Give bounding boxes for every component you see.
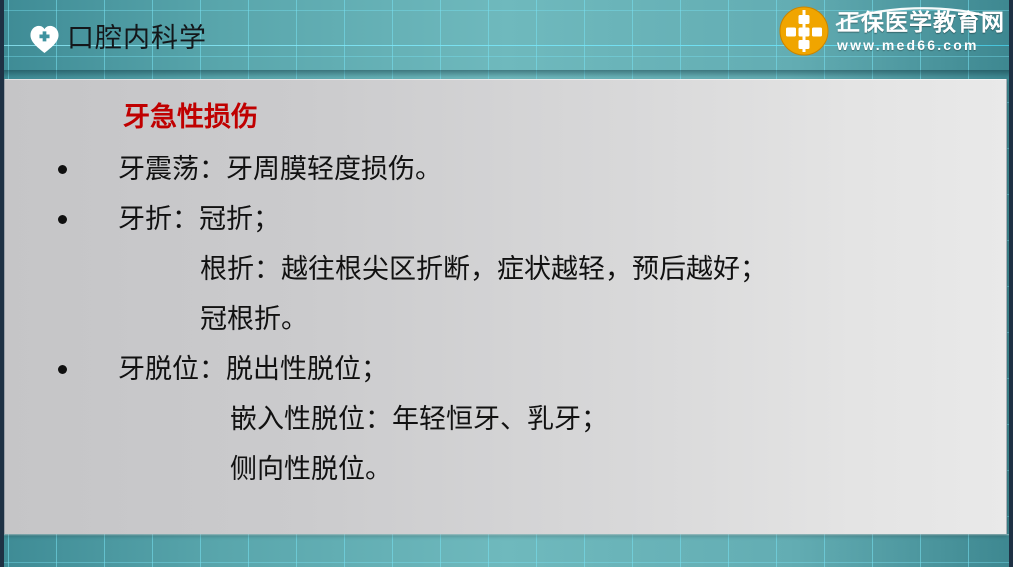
site-logo-name: 正保医学教育网 — [837, 9, 1005, 36]
slide-footer-strip — [0, 534, 1013, 567]
slide-heading: 牙急性损伤 — [123, 100, 258, 134]
presentation-slide: 口腔内科学 正保医学教育网 www.m — [0, 0, 1013, 567]
footer-highlight-line — [0, 534, 1013, 536]
slide-content-panel: 牙急性损伤牙震荡：牙周膜轻度损伤。牙折：冠折；根折：越往根尖区折断，症状越轻，预… — [4, 79, 1007, 534]
bullet-line: 牙脱位：脱出性脱位； — [118, 352, 388, 386]
bullet-line: 根折：越往根尖区折断，症状越轻，预后越好； — [200, 252, 767, 286]
bullet-marker — [58, 365, 67, 374]
site-logo: 正保医学教育网 www.med66.com — [778, 5, 1005, 57]
bullet-marker — [58, 165, 67, 174]
slide-header: 口腔内科学 正保医学教育网 www.m — [0, 0, 1013, 78]
site-logo-url: www.med66.com — [837, 36, 1005, 54]
bullet-line: 嵌入性脱位：年轻恒牙、乳牙； — [230, 402, 608, 436]
bullet-line: 冠根折。 — [200, 302, 308, 336]
page-title: 口腔内科学 — [67, 20, 207, 56]
bullet-line: 侧向性脱位。 — [230, 452, 392, 486]
site-logo-text: 正保医学教育网 www.med66.com — [837, 9, 1005, 54]
heart-plus-icon — [29, 24, 60, 54]
slide-right-edge — [1009, 0, 1013, 567]
slide-left-edge — [0, 0, 4, 567]
med66-cross-circle-logo — [778, 5, 830, 57]
bullet-line: 牙震荡：牙周膜轻度损伤。 — [118, 152, 442, 186]
slide-text-body: 牙急性损伤牙震荡：牙周膜轻度损伤。牙折：冠折；根折：越往根尖区折断，症状越轻，预… — [5, 79, 1006, 534]
bullet-line: 牙折：冠折； — [118, 202, 280, 236]
bullet-marker — [58, 215, 67, 224]
